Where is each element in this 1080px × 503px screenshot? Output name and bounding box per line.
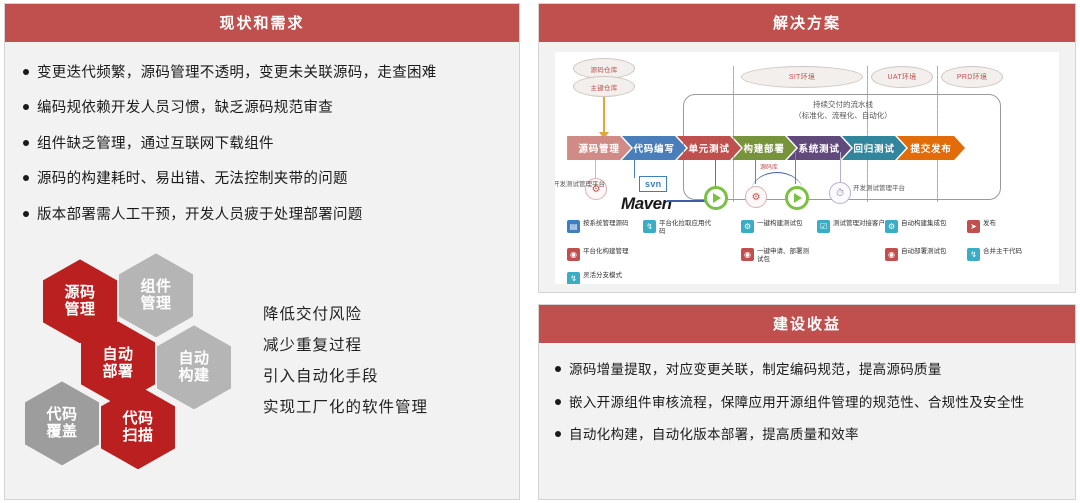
legend-text: 平台化构建管理 (583, 248, 629, 256)
bullet-text: 编码规依赖开发人员习惯，缺乏源码规范审查 (37, 97, 333, 119)
list-item: 自动化构建，自动化版本部署，提高质量和效率 (555, 424, 1057, 446)
hex-line1: 自动 (178, 350, 209, 368)
list-item: 源码的构建耗时、易出错、无法控制夹带的问题 (23, 168, 505, 190)
bullet-text: 自动化构建，自动化版本部署，提高质量和效率 (569, 424, 859, 446)
stage-source-management[interactable]: 源码管理 (567, 136, 631, 160)
benefit-body: 源码增量提取，对应变更关联，制定编码规范，提高源码质量 嵌入开源组件审核流程，保… (539, 343, 1075, 499)
current-situation-panel: 现状和需求 变更迭代频繁，源码管理不透明，变更未关联源码，走查困难 编码规依赖开… (4, 3, 520, 500)
solution-panel: 解决方案 源码仓库 主键仓库 SIT环境 UAT环境 PRD环境 (538, 3, 1076, 293)
maven-logo: Maven (621, 194, 671, 214)
legend-text: 测试管理对接客户 (833, 220, 885, 228)
benefit-line: 降低交付风险 (263, 299, 428, 330)
legend-text: 一键构建测试包 (757, 220, 803, 228)
bullet-dot-icon (555, 431, 561, 437)
branch-icon: ↯ (967, 248, 980, 261)
play-icon: ◉ (741, 248, 754, 261)
bullet-text: 源码增量提取，对应变更关联，制定编码规范，提高源码质量 (569, 359, 942, 381)
pipeline-caption: 持续交付的流水线 （标准化、流程化、自动化） (705, 100, 981, 122)
legend-text: 自动部署测试包 (901, 248, 947, 256)
hexagon-code-coverage: 代码 覆盖 (25, 381, 99, 465)
pipeline-stage-row: 源码管理 代码编写 单元测试 构建部署 系统测试 回归测试 提交发布 (567, 136, 965, 160)
legend-item-manage-source: ▤ 按系统管理源码 (567, 220, 629, 233)
label-dev-test-platform-left: 开发测试管理平台 (555, 180, 585, 189)
hexagon-cluster: 源码 管理 组件 管理 自动 部署 自动 构建 (19, 253, 239, 468)
list-item: 版本部署需人工干预，开发人员疲于处理部署问题 (23, 204, 505, 226)
legend-item-test-mgmt-client: ☑ 测试管理对接客户 (817, 220, 885, 233)
hexagon-section: 源码 管理 组件 管理 自动 部署 自动 构建 (5, 249, 519, 468)
platform-label-text: 开发测试管理平台 (853, 185, 905, 192)
meter-icon-system-test: ⏱ (829, 182, 851, 204)
hex-line1: 代码 (122, 410, 153, 428)
legend-item-release: ➤ 发布 (967, 220, 996, 233)
stage-submit-release[interactable]: 提交发布 (897, 136, 965, 160)
hex-line2: 管理 (64, 301, 95, 319)
stage-system-test[interactable]: 系统测试 (787, 136, 851, 160)
bullet-dot-icon (555, 366, 561, 372)
ellipse-prd-env: PRD环境 (941, 66, 1003, 88)
legend-item-auto-build-package: ⚙ 自动构建集成包 (885, 220, 947, 233)
situation-bullet-list: 变更迭代频繁，源码管理不透明，变更未关联源码，走查困难 编码规依赖开发人员习惯，… (5, 42, 519, 249)
list-item: 嵌入开源组件审核流程，保障应用开源组件管理的规范性、合规性及安全性 (555, 392, 1057, 414)
package-icon: ⚙ (741, 220, 754, 233)
hex-line1: 组件 (140, 278, 171, 296)
branch-icon: ↯ (643, 220, 656, 233)
legend-text: 平台化拉取应用代码 (659, 220, 713, 237)
benefit-line: 实现工厂化的软件管理 (263, 392, 428, 423)
hexagon-component-management: 组件 管理 (119, 253, 193, 337)
stage-regression-test[interactable]: 回归测试 (842, 136, 906, 160)
stage-code-writing[interactable]: 代码编写 (622, 136, 686, 160)
benefit-header: 建设收益 (539, 305, 1075, 343)
bullet-dot-icon (23, 69, 29, 75)
checklist-icon: ☑ (817, 220, 830, 233)
legend-item-one-click-deploy: ◉ 一键申请、部署测试包 (741, 248, 811, 265)
package-icon: ⚙ (885, 220, 898, 233)
legend-item-merge-trunk: ↯ 合并主干代码 (967, 248, 1022, 261)
legend-item-one-click-build: ⚙ 一键构建测试包 (741, 220, 803, 233)
bullet-text: 变更迭代频繁，源码管理不透明，变更未关联源码，走查困难 (37, 62, 437, 84)
pipeline-diagram: 源码仓库 主键仓库 SIT环境 UAT环境 PRD环境 (555, 52, 1059, 284)
ellipse-uat-env: UAT环境 (871, 66, 933, 88)
benefit-line: 减少重复过程 (263, 330, 428, 361)
hex-line1: 源码 (64, 284, 95, 302)
send-icon: ➤ (967, 220, 980, 233)
stage-unit-test[interactable]: 单元测试 (677, 136, 741, 160)
label-source-repo-mini: 源码库 (760, 162, 778, 171)
bullet-text: 嵌入开源组件审核流程，保障应用开源组件管理的规范性、合规性及安全性 (569, 392, 1024, 414)
bullet-text: 组件缺乏管理，通过互联网下载组件 (37, 133, 274, 155)
ellipse-sit-env: SIT环境 (741, 66, 863, 88)
solution-body: 源码仓库 主键仓库 SIT环境 UAT环境 PRD环境 (539, 42, 1075, 294)
hexagon-auto-build: 自动 构建 (157, 325, 231, 409)
ellipse-trunk-repo: 主键仓库 (573, 76, 635, 97)
list-item: 变更迭代频繁，源码管理不透明，变更未关联源码，走查困难 (23, 62, 505, 84)
svn-tool-badge: svn (639, 176, 667, 192)
current-situation-body: 变更迭代频繁，源码管理不透明，变更未关联源码，走查困难 编码规依赖开发人员习惯，… (5, 42, 519, 499)
solution-header: 解决方案 (539, 4, 1075, 42)
construction-benefit-panel: 建设收益 源码增量提取，对应变更关联，制定编码规范，提高源码质量 嵌入开源组件审… (538, 304, 1076, 500)
current-situation-header: 现状和需求 (5, 4, 519, 42)
legend-text: 发布 (983, 220, 996, 228)
legend-text: 按系统管理源码 (583, 220, 629, 228)
connector-svn (634, 152, 635, 178)
legend-item-pull-code: ↯ 平台化拉取应用代码 (643, 220, 713, 237)
right-column: 解决方案 源码仓库 主键仓库 SIT环境 UAT环境 PRD环境 (538, 3, 1076, 500)
play-icon-build-deploy[interactable] (785, 186, 809, 210)
branch-icon: ↯ (567, 272, 580, 284)
legend-text: 自动构建集成包 (901, 220, 947, 228)
benefit-line: 引入自动化手段 (263, 361, 428, 392)
bullet-dot-icon (23, 140, 29, 146)
left-column: 现状和需求 变更迭代频繁，源码管理不透明，变更未关联源码，走查困难 编码规依赖开… (4, 3, 520, 500)
hex-line1: 代码 (46, 406, 77, 424)
slide-root: 现状和需求 变更迭代频繁，源码管理不透明，变更未关联源码，走查困难 编码规依赖开… (0, 0, 1080, 503)
arrow-repo-to-pipeline (603, 97, 605, 135)
hex-line2: 管理 (140, 295, 171, 313)
hex-line2: 覆盖 (46, 423, 77, 441)
legend-text: 合并主干代码 (983, 248, 1022, 256)
list-item: 组件缺乏管理，通过互联网下载组件 (23, 133, 505, 155)
gear-icon-build: ⚙ (745, 186, 767, 208)
bullet-dot-icon (23, 104, 29, 110)
hex-line1: 自动 (102, 346, 133, 364)
list-item: 编码规依赖开发人员习惯，缺乏源码规范审查 (23, 97, 505, 119)
platform-label-text: 开发测试管理平台 (555, 181, 605, 188)
label-dev-test-platform-right: 开发测试管理平台 (853, 184, 905, 193)
legend-item-platform-build: ◉ 平台化构建管理 (567, 248, 629, 261)
legend-item-auto-deploy-package: ◉ 自动部署测试包 (885, 248, 947, 261)
legend-text: 灵活分支模式 (583, 272, 622, 280)
hex-line2: 部署 (102, 363, 133, 381)
list-item: 源码增量提取，对应变更关联，制定编码规范，提高源码质量 (555, 359, 1057, 381)
connector-unittest (715, 152, 716, 188)
pipeline-caption-line1: 持续交付的流水线 (705, 100, 981, 111)
connector-system-test (840, 152, 841, 184)
bullet-dot-icon (23, 175, 29, 181)
bullet-dot-icon (23, 211, 29, 217)
stage-build-deploy[interactable]: 构建部署 (732, 136, 796, 160)
play-icon: ◉ (885, 248, 898, 261)
dashboard-icon: ◉ (567, 248, 580, 261)
bullet-dot-icon (555, 399, 561, 405)
bullet-text: 源码的构建耗时、易出错、无法控制夹带的问题 (37, 168, 348, 190)
grid-icon: ▤ (567, 220, 580, 233)
legend-item-branch-mode: ↯ 灵活分支模式 (567, 272, 622, 284)
pipeline-caption-line2: （标准化、流程化、自动化） (705, 111, 981, 122)
benefit-text-block: 降低交付风险 减少重复过程 引入自动化手段 实现工厂化的软件管理 (263, 299, 428, 423)
bullet-text: 版本部署需人工干预，开发人员疲于处理部署问题 (37, 204, 363, 226)
hex-line2: 扫描 (122, 427, 153, 445)
legend-text: 一键申请、部署测试包 (757, 248, 811, 265)
hex-line2: 构建 (178, 367, 209, 385)
play-icon-unit-test[interactable] (704, 186, 728, 210)
